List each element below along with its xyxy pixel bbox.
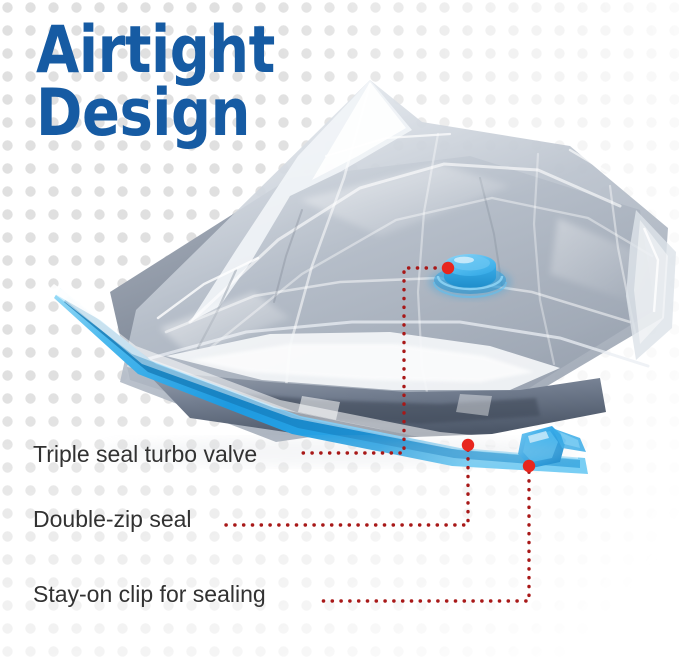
marketing-image-canvas: Airtight Design [0,0,679,663]
page-title: Airtight Design [36,22,314,143]
headline-line-2: Design [36,85,275,144]
leader-line-clip [317,472,529,601]
callout-label-triple-seal-turbo-valve: Triple seal turbo valve [33,441,257,468]
bag-right-edge [626,210,676,360]
callout-label-double-zip-seal: Double-zip seal [33,506,192,533]
headline-line-1: Airtight [36,22,275,81]
callout-label-stay-on-clip-for-sealing: Stay-on clip for sealing [33,581,266,608]
